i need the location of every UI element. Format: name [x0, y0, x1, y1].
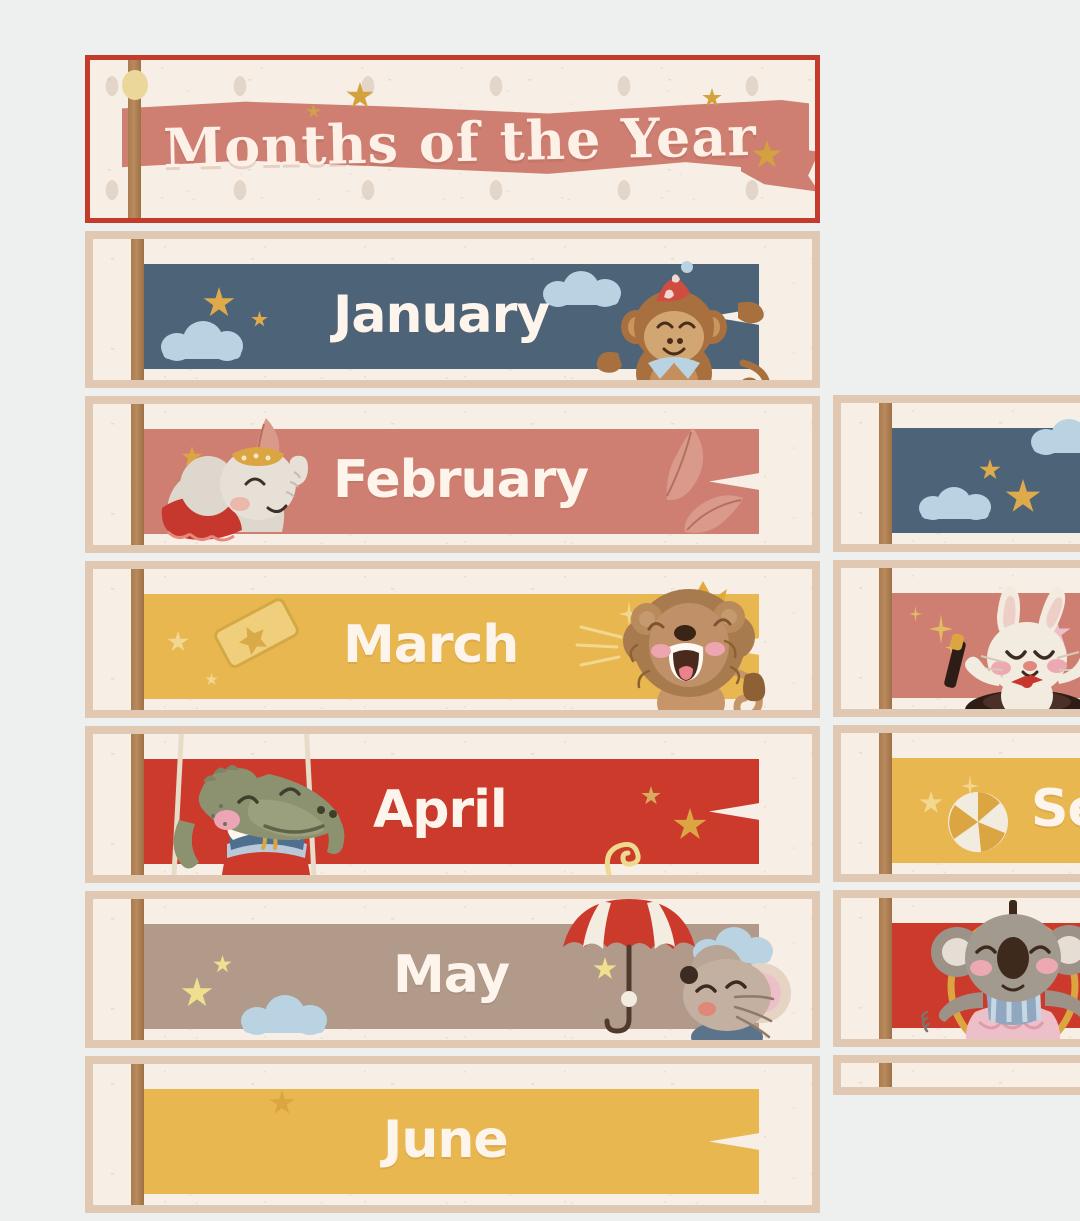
- month-label: June: [383, 1110, 508, 1170]
- lion-illustration: [573, 575, 803, 718]
- flag-pole: [131, 899, 144, 1040]
- flag-pole: [131, 734, 144, 875]
- right-column: Se: [833, 395, 1080, 1103]
- page-title: Months of the Year: [129, 89, 791, 195]
- circus-ticket-icon: [211, 595, 303, 673]
- flag-pole-knob: [122, 70, 148, 100]
- month-label: April: [373, 780, 507, 840]
- month-label: January: [333, 285, 549, 345]
- rabbit-illustration: [937, 586, 1080, 717]
- month-label: March: [343, 615, 518, 675]
- cloud-icon: [1031, 417, 1080, 451]
- month-card-february[interactable]: February: [85, 396, 820, 553]
- beach-ball-icon: [947, 791, 1009, 853]
- gold-streamer-icon: [595, 818, 651, 878]
- flag-pole: [879, 898, 892, 1039]
- cloud-icon: [161, 319, 243, 357]
- flag-pole: [131, 1064, 144, 1205]
- poster-sheet: Months of the Year: [0, 0, 1080, 1080]
- paper-texture: [841, 1063, 1080, 1087]
- month-card-march[interactable]: March: [85, 561, 820, 718]
- flag-pole: [879, 733, 892, 874]
- koala-illustration: [919, 900, 1080, 1047]
- month-label: February: [333, 450, 588, 510]
- month-card-right-4[interactable]: [833, 890, 1080, 1047]
- flag-pole: [879, 568, 892, 709]
- flag-pole: [879, 403, 892, 544]
- title-card[interactable]: Months of the Year: [85, 55, 820, 223]
- elephant-illustration: [148, 412, 358, 553]
- month-card-right-1[interactable]: [833, 395, 1080, 552]
- month-card-right-3[interactable]: Se: [833, 725, 1080, 882]
- month-label: May: [393, 945, 509, 1005]
- monkey-illustration: [588, 253, 778, 388]
- cloud-icon: [241, 993, 327, 1031]
- month-card-right-5[interactable]: [833, 1055, 1080, 1095]
- cloud-icon: [919, 485, 991, 517]
- flag-pole: [131, 239, 144, 380]
- left-column: Months of the Year: [85, 55, 820, 1221]
- month-label: Se: [1031, 779, 1080, 839]
- flag-pole: [131, 404, 144, 545]
- month-card-may[interactable]: May: [85, 891, 820, 1048]
- crocodile-illustration: [155, 748, 375, 883]
- mouse-illustration: [653, 929, 820, 1048]
- month-card-january[interactable]: January: [85, 231, 820, 388]
- month-card-april[interactable]: April: [85, 726, 820, 883]
- pink-feather-icon: [681, 488, 747, 534]
- flag-pole: [131, 569, 144, 710]
- flag-pole: [879, 1063, 892, 1087]
- month-card-right-2[interactable]: [833, 560, 1080, 717]
